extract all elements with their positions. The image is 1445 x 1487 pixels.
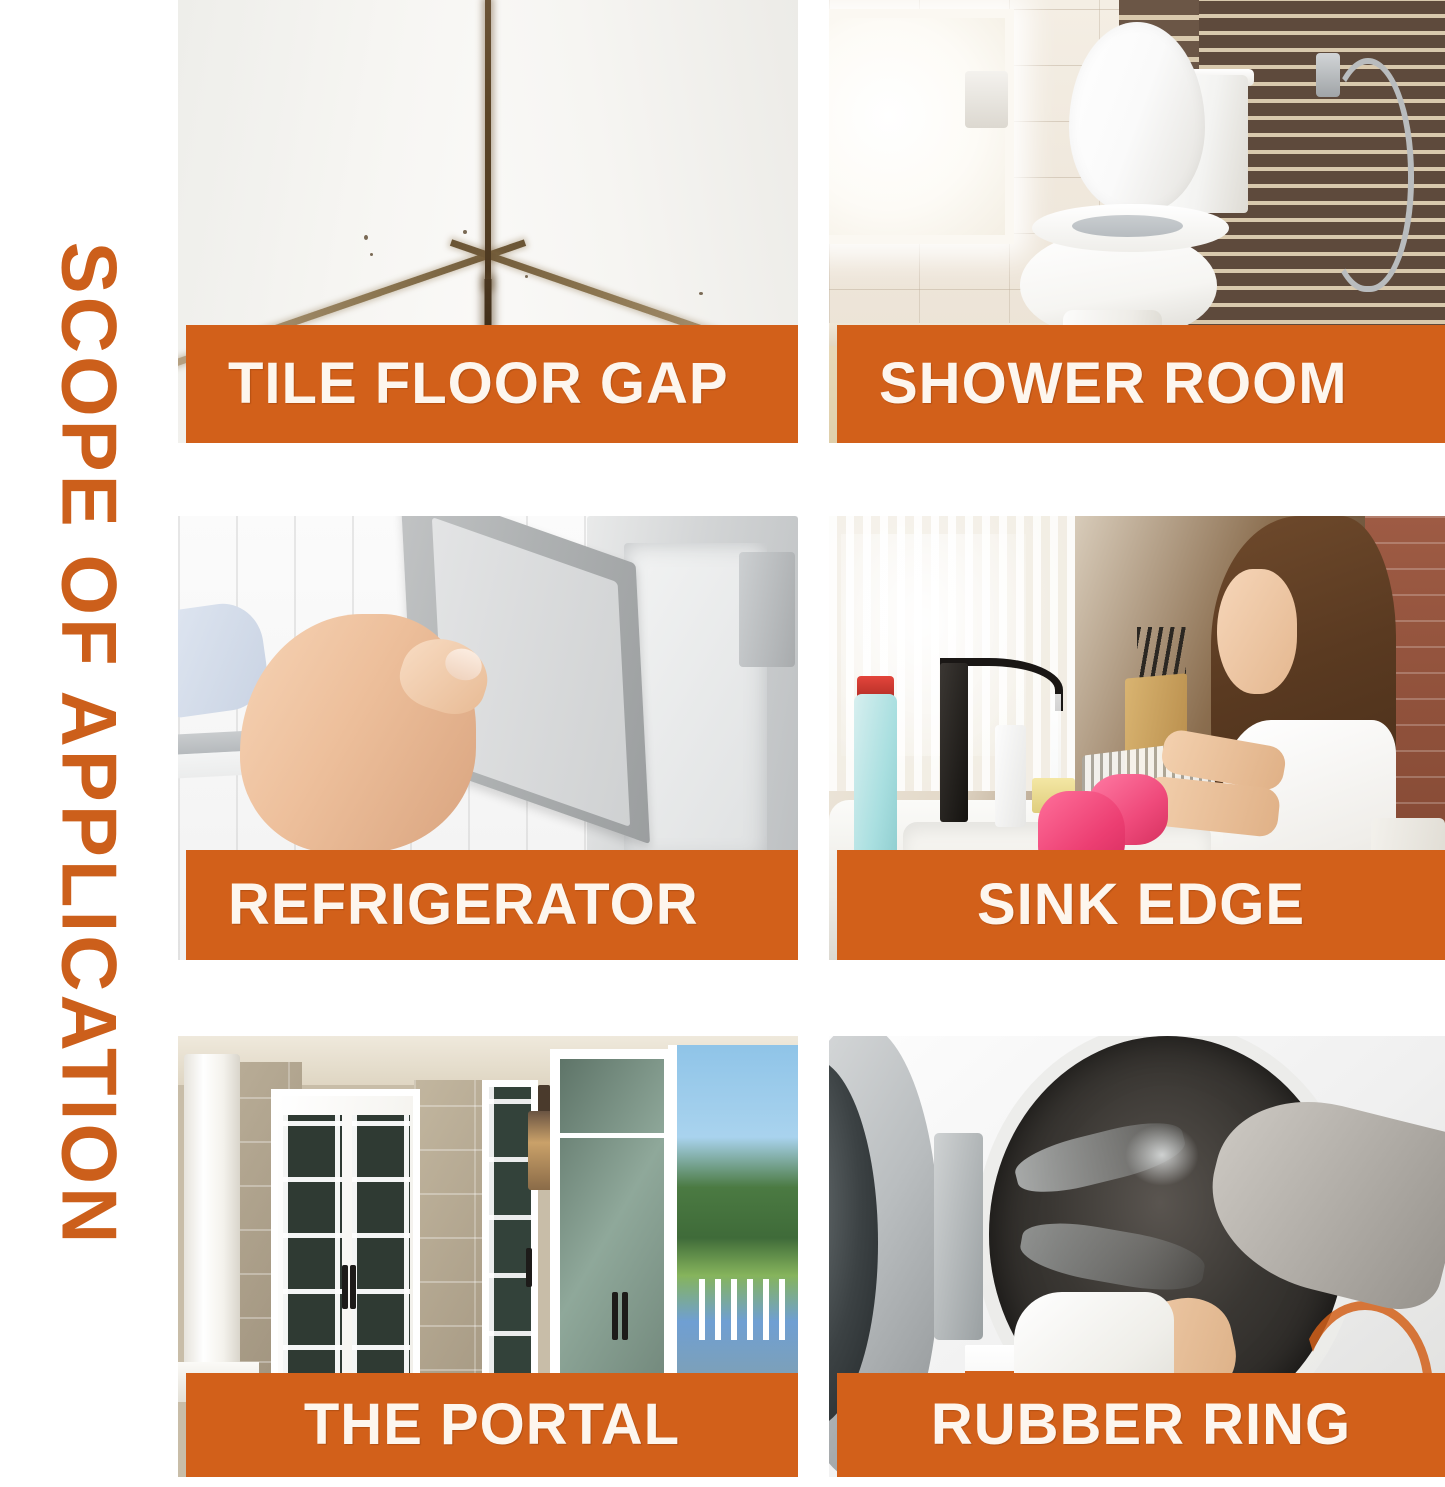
cell-rubber-ring: RUBBER RING xyxy=(829,1036,1445,1477)
label-refrigerator: REFRIGERATOR xyxy=(186,850,798,960)
label-text: SINK EDGE xyxy=(977,876,1305,934)
label-shower-room: SHOWER ROOM xyxy=(837,325,1445,443)
label-tile-floor-gap: TILE FLOOR GAP xyxy=(186,325,798,443)
cell-shower-room: SHOWER ROOM xyxy=(829,0,1445,443)
label-text: RUBBER RING xyxy=(931,1396,1351,1454)
label-text: SHOWER ROOM xyxy=(879,355,1348,413)
label-text: THE PORTAL xyxy=(304,1396,680,1454)
label-text: REFRIGERATOR xyxy=(228,876,699,934)
infographic-page: SCOPE OF APPLICATION xyxy=(0,0,1445,1487)
label-sink-edge: SINK EDGE xyxy=(837,850,1445,960)
label-rubber-ring: RUBBER RING xyxy=(837,1373,1445,1477)
cell-the-portal: THE PORTAL xyxy=(178,1036,798,1477)
side-title-text: SCOPE OF APPLICATION xyxy=(50,241,128,1246)
scope-of-application-title: SCOPE OF APPLICATION xyxy=(0,0,178,1487)
label-the-portal: THE PORTAL xyxy=(186,1373,798,1477)
cell-refrigerator: REFRIGERATOR xyxy=(178,516,798,960)
label-text: TILE FLOOR GAP xyxy=(228,355,729,413)
cell-sink-edge: SINK EDGE xyxy=(829,516,1445,960)
application-grid: TILE FLOOR GAP xyxy=(178,0,1445,1487)
cell-tile-floor-gap: TILE FLOOR GAP xyxy=(178,0,798,443)
